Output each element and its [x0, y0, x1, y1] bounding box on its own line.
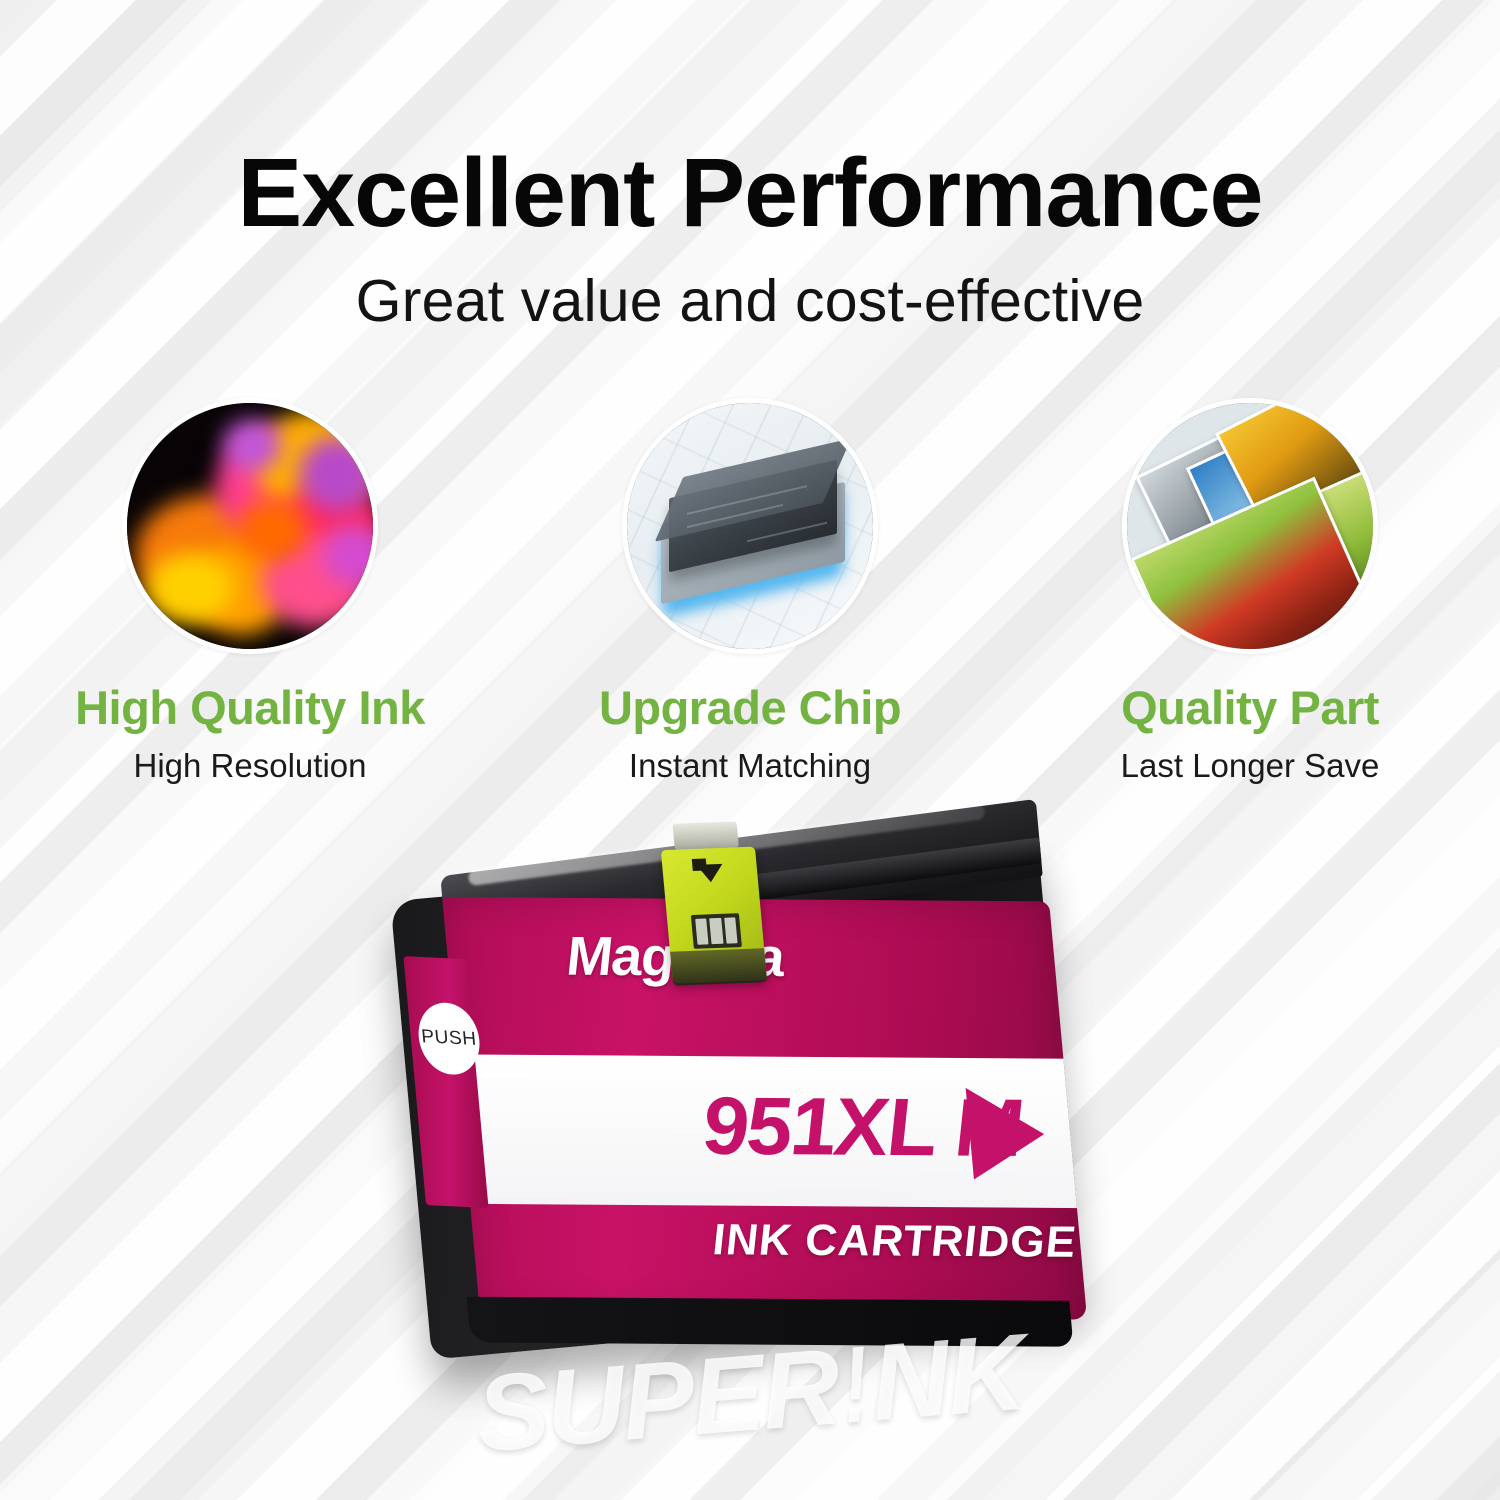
chip-contacts-icon: [691, 913, 742, 949]
label-model-number: 951XL M: [698, 1080, 1025, 1176]
product-image: Magenta 951XL M INK CARTRIDGE PUSH: [0, 760, 1500, 1400]
page-title: Excellent Performance: [0, 142, 1500, 244]
feature-row: High Quality Ink High Resolution Upgrade…: [0, 398, 1500, 785]
feature-item-high-quality-ink: High Quality Ink High Resolution: [0, 398, 500, 785]
ink-splash-icon: [122, 398, 378, 654]
label-type: INK CARTRIDGE: [710, 1215, 1078, 1267]
feature-title: Quality Part: [1121, 680, 1379, 735]
push-label: PUSH: [420, 1026, 477, 1051]
microchip-icon: [622, 398, 878, 654]
feature-title: Upgrade Chip: [599, 680, 901, 735]
ink-cartridge: Magenta 951XL M INK CARTRIDGE PUSH: [374, 750, 1116, 1410]
feature-item-upgrade-chip: Upgrade Chip Instant Matching: [500, 398, 1000, 785]
down-arrow-icon: [696, 864, 724, 883]
product-infographic: Excellent Performance Great value and co…: [0, 0, 1500, 1500]
feature-title: High Quality Ink: [75, 680, 425, 735]
photo-prints-icon: [1122, 398, 1378, 654]
chip-clip-shadow: [670, 948, 767, 985]
clip-tab: [672, 821, 738, 849]
page-subtitle: Great value and cost-effective: [0, 267, 1500, 335]
cartridge-base: [466, 1297, 1073, 1347]
feature-item-quality-part: Quality Part Last Longer Save: [1000, 398, 1500, 785]
